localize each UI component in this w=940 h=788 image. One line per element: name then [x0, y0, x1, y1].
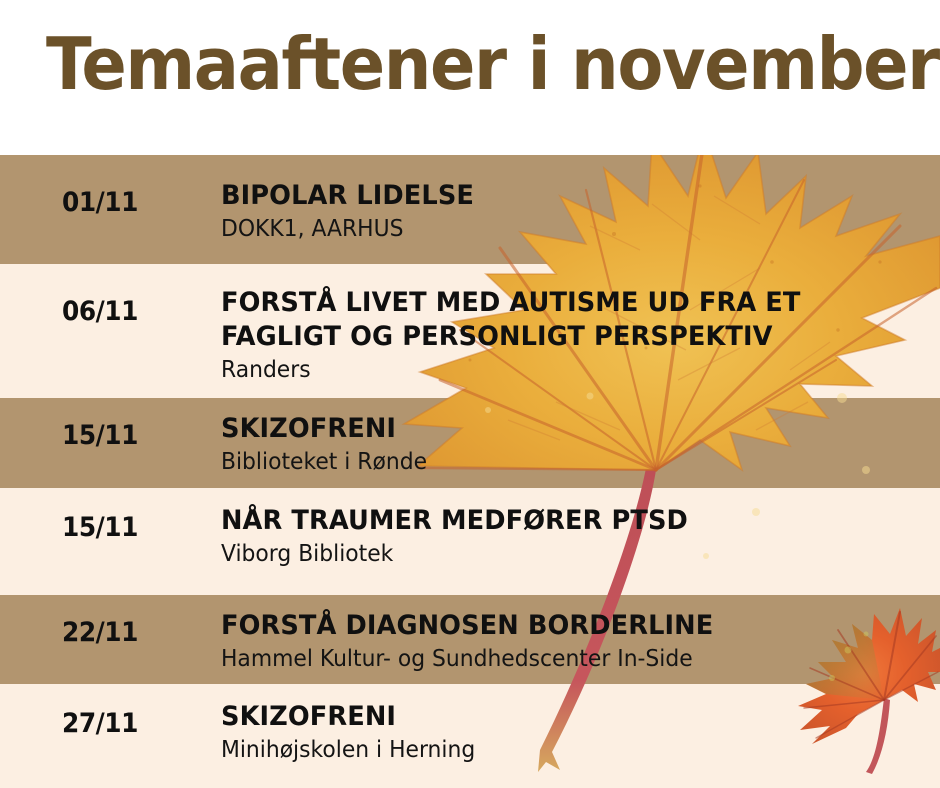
event-venue: Viborg Bibliotek [221, 540, 886, 570]
event-title: FORSTÅ LIVET MED AUTISME UD FRA ET FAGLI… [221, 286, 886, 354]
poster-canvas: Temaaftener i november 01/11BIPOLAR LIDE… [0, 0, 940, 788]
event-title: NÅR TRAUMER MEDFØRER PTSD [221, 504, 886, 538]
schedule-row[interactable]: 15/11SKIZOFRENIBiblioteket i Rønde [0, 398, 940, 488]
event-venue: Minihøjskolen i Herning [221, 736, 886, 766]
event-title: BIPOLAR LIDELSE [221, 179, 886, 213]
event-title: SKIZOFRENI [221, 700, 886, 734]
event-date: 15/11 [62, 512, 138, 543]
event-date: 22/11 [62, 617, 138, 648]
poster-header: Temaaftener i november [0, 0, 940, 155]
event-date: 15/11 [62, 420, 138, 451]
schedule-row[interactable]: 22/11FORSTÅ DIAGNOSEN BORDERLINEHammel K… [0, 595, 940, 684]
event-body: FORSTÅ LIVET MED AUTISME UD FRA ET FAGLI… [221, 286, 921, 386]
event-body: NÅR TRAUMER MEDFØRER PTSDViborg Bibliote… [221, 504, 921, 570]
event-title: SKIZOFRENI [221, 412, 886, 446]
event-body: SKIZOFRENIMinihøjskolen i Herning [221, 700, 921, 766]
event-body: FORSTÅ DIAGNOSEN BORDERLINEHammel Kultur… [221, 609, 921, 675]
event-venue: Randers [221, 356, 886, 386]
event-date: 06/11 [62, 296, 138, 327]
event-date: 01/11 [62, 187, 138, 218]
event-body: SKIZOFRENIBiblioteket i Rønde [221, 412, 921, 478]
page-title: Temaaftener i november [46, 28, 939, 100]
event-venue: DOKK1, AARHUS [221, 215, 886, 245]
schedule-row[interactable]: 01/11BIPOLAR LIDELSEDOKK1, AARHUS [0, 155, 940, 264]
schedule-row[interactable]: 15/11NÅR TRAUMER MEDFØRER PTSDViborg Bib… [0, 488, 940, 595]
event-title: FORSTÅ DIAGNOSEN BORDERLINE [221, 609, 886, 643]
event-venue: Hammel Kultur- og Sundhedscenter In-Side [221, 645, 886, 675]
schedule-row[interactable]: 06/11FORSTÅ LIVET MED AUTISME UD FRA ET … [0, 264, 940, 398]
event-venue: Biblioteket i Rønde [221, 448, 886, 478]
schedule-row[interactable]: 27/11SKIZOFRENIMinihøjskolen i Herning [0, 684, 940, 788]
event-body: BIPOLAR LIDELSEDOKK1, AARHUS [221, 179, 921, 245]
event-date: 27/11 [62, 708, 138, 739]
